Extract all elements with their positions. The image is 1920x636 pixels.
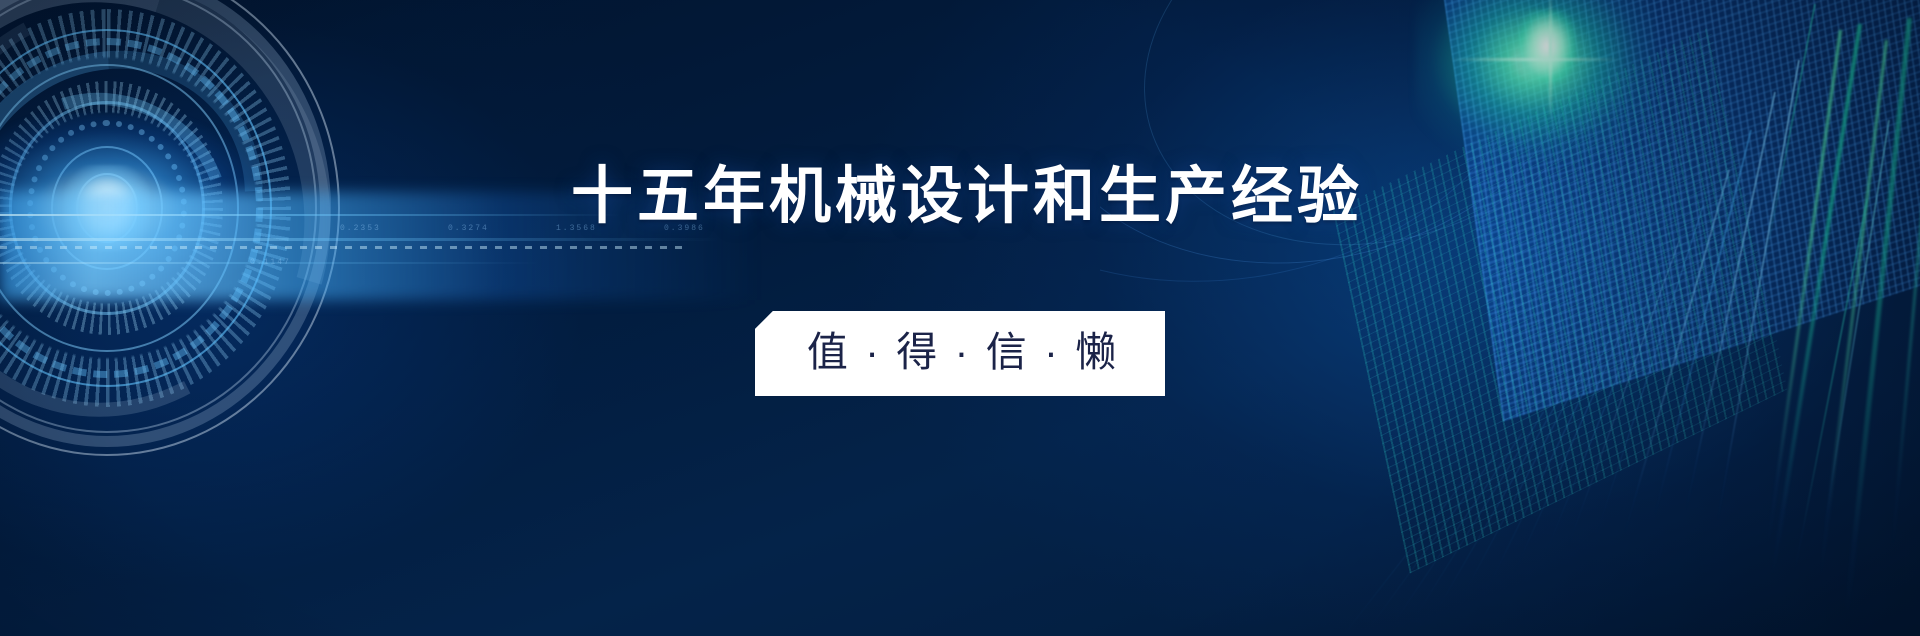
subtitle-block: 值 · 得 · 信 · 懒 [0, 311, 1920, 396]
headline-block: 十五年机械设计和生产经验 [0, 166, 1920, 228]
hero-banner: 0.2353 0.3274 1.3568 0.3986 0.1147 十五年机械… [0, 0, 1920, 636]
page-title: 十五年机械设计和生产经验 [557, 166, 1363, 228]
subtitle-text: 值 · 得 · 信 · 懒 [807, 329, 1119, 375]
subtitle-plate: 值 · 得 · 信 · 懒 [755, 311, 1165, 396]
